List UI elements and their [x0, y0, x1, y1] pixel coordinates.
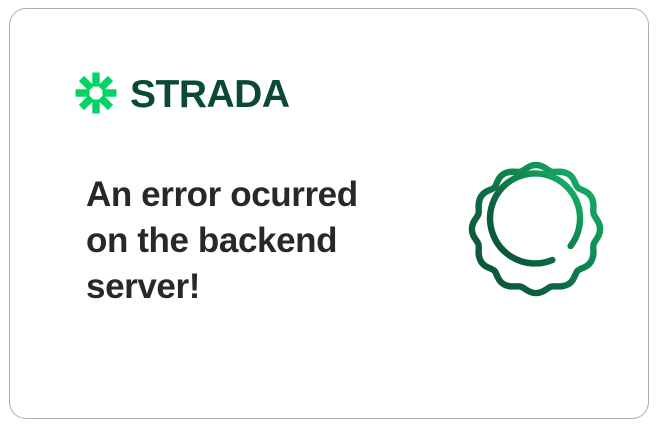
error-card: STRADA An error ocurred on the backend s… [9, 8, 649, 419]
brand-wordmark: STRADA [130, 75, 290, 114]
strada-asterisk-icon [74, 71, 118, 115]
brand-lockup: STRADA [74, 71, 290, 115]
gear-cog-icon [448, 141, 624, 317]
error-screen: STRADA An error ocurred on the backend s… [0, 0, 666, 436]
error-message: An error ocurred on the backend server! [86, 172, 376, 310]
